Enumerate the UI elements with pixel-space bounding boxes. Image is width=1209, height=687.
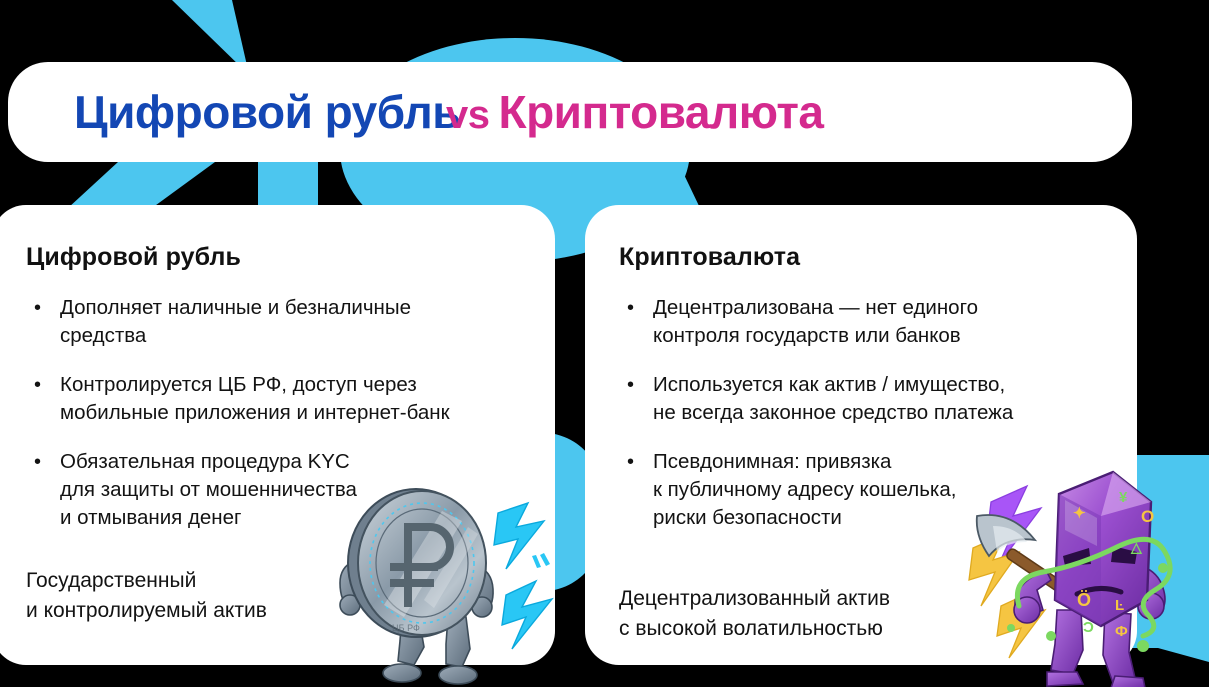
bullet-list-cryptocurrency: • Децентрализована — нет единого контрол… bbox=[619, 294, 1111, 532]
card-title-cryptocurrency: Криптовалюта bbox=[619, 243, 1111, 272]
list-item: • Децентрализована — нет единого контрол… bbox=[619, 294, 1111, 350]
bullet-dot-icon: • bbox=[34, 448, 41, 476]
list-item: • Используется как актив / имущество, не… bbox=[619, 371, 1111, 427]
cyan-band-top-left bbox=[172, 0, 248, 70]
bullet-dot-icon: • bbox=[627, 294, 634, 322]
bullet-line: риски безопасности bbox=[653, 504, 1111, 532]
bullet-line: Обязательная процедура KYC bbox=[60, 448, 529, 476]
list-item: • Обязательная процедура KYC для защиты … bbox=[26, 448, 529, 532]
list-item: • Псевдонимная: привязка к публичному ад… bbox=[619, 448, 1111, 532]
bullet-line: для защиты от мошенничества bbox=[60, 476, 529, 504]
cyan-slab-right bbox=[1129, 455, 1209, 662]
summary-line: и контролируемый актив bbox=[26, 596, 529, 626]
list-item: • Дополняет наличные и безналичные средс… bbox=[26, 294, 529, 350]
bullet-line: Используется как актив / имущество, bbox=[653, 371, 1111, 399]
title-digital-ruble: Цифровой рубль bbox=[74, 85, 460, 139]
card-title-digital-ruble: Цифровой рубль bbox=[26, 243, 529, 272]
summary-line: Децентрализованный актив bbox=[619, 584, 1111, 614]
bullet-line: Псевдонимная: привязка bbox=[653, 448, 1111, 476]
page-title: Цифровой рубль vs Криптовалюта bbox=[74, 85, 823, 139]
bullet-line: к публичному адресу кошелька, bbox=[653, 476, 1111, 504]
header-card: Цифровой рубль vs Криптовалюта bbox=[8, 62, 1132, 162]
title-vs: vs bbox=[446, 93, 490, 138]
bullet-list-digital-ruble: • Дополняет наличные и безналичные средс… bbox=[26, 294, 529, 532]
bullet-dot-icon: • bbox=[34, 371, 41, 399]
bullet-dot-icon: • bbox=[627, 448, 634, 476]
bullet-line: мобильные приложения и интернет-банк bbox=[60, 399, 529, 427]
bullet-line: контроля государств или банков bbox=[653, 322, 1111, 350]
bullet-dot-icon: • bbox=[627, 371, 634, 399]
card-summary-digital-ruble: Государственный и контролируемый актив bbox=[26, 566, 529, 626]
cyan-band-right-a bbox=[612, 162, 700, 208]
summary-line: с высокой волатильностью bbox=[619, 614, 1111, 644]
card-digital-ruble: Цифровой рубль • Дополняет наличные и бе… bbox=[0, 205, 555, 665]
cyan-band-left-a bbox=[68, 162, 215, 208]
card-summary-cryptocurrency: Децентрализованный актив с высокой волат… bbox=[619, 584, 1111, 644]
svg-text:Ο: Ο bbox=[1141, 507, 1154, 526]
bullet-line: Децентрализована — нет единого bbox=[653, 294, 1111, 322]
bullet-line: Контролируется ЦБ РФ, доступ через bbox=[60, 371, 529, 399]
bullet-line: Дополняет наличные и безналичные bbox=[60, 294, 529, 322]
bullet-line: не всегда законное средство платежа bbox=[653, 399, 1111, 427]
title-cryptocurrency: Криптовалюта bbox=[499, 85, 824, 139]
summary-line: Государственный bbox=[26, 566, 529, 596]
card-cryptocurrency: Криптовалюта • Децентрализована — нет ед… bbox=[585, 205, 1137, 665]
list-item: • Контролируется ЦБ РФ, доступ через моб… bbox=[26, 371, 529, 427]
bullet-line: средства bbox=[60, 322, 529, 350]
cyan-band-left-b bbox=[258, 162, 318, 208]
bullet-line: и отмывания денег bbox=[60, 504, 529, 532]
infographic-stage: Цифровой рубль vs Криптовалюта Цифровой … bbox=[0, 0, 1209, 687]
bullet-dot-icon: • bbox=[34, 294, 41, 322]
